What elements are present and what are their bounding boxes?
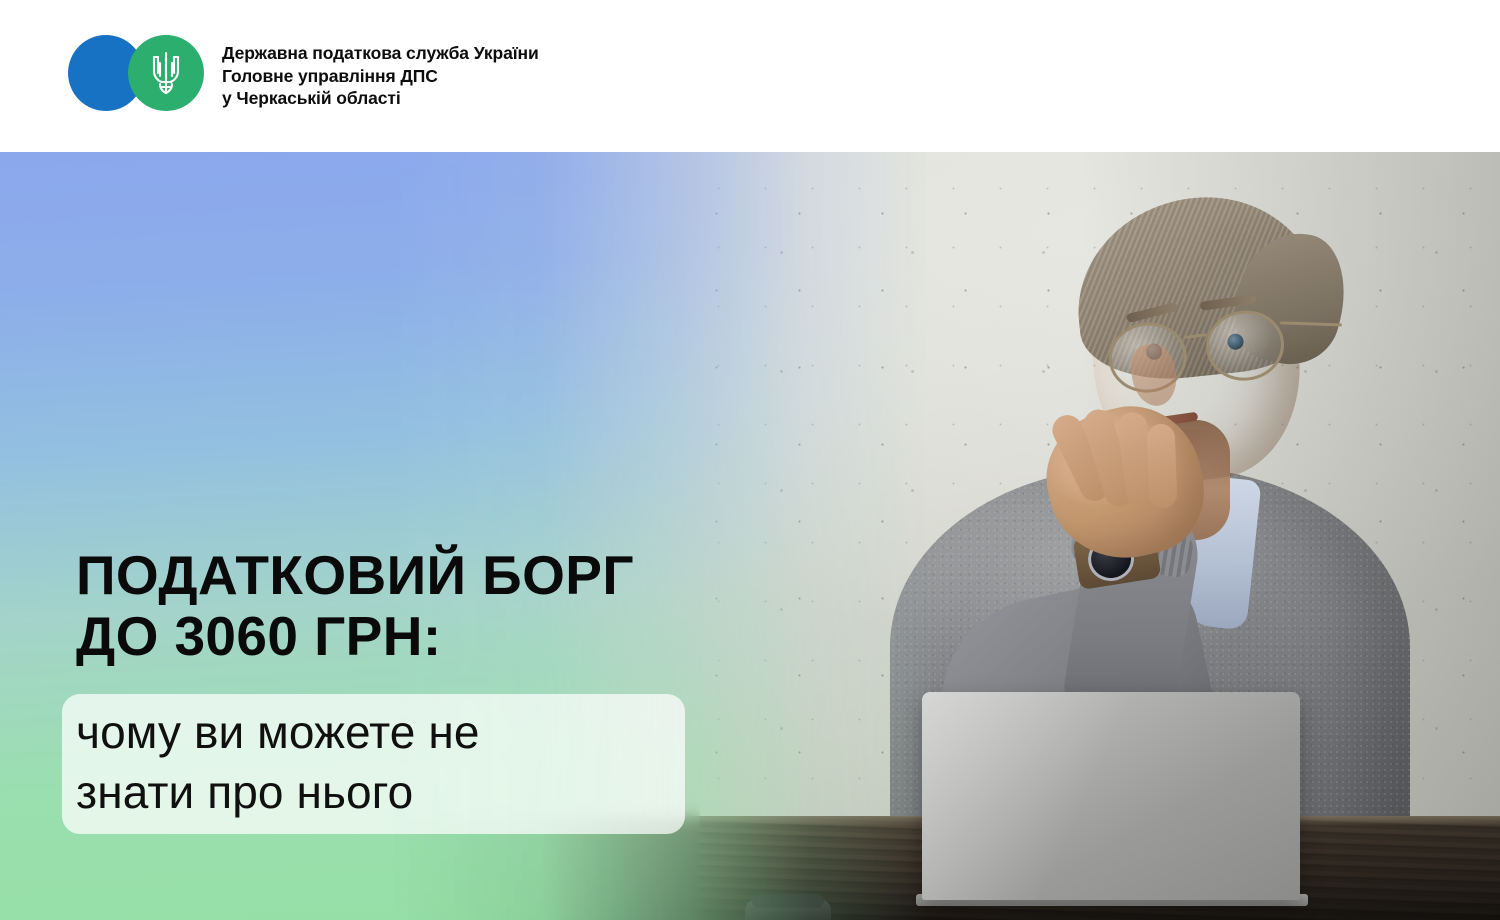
headline-line-2: ДО 3060 ГРН: <box>76 606 736 667</box>
page-subtitle: чому ви можете не знати про нього <box>76 703 686 823</box>
subtitle-line-2: знати про нього <box>76 763 686 823</box>
header-bar: Державна податкова служба України Головн… <box>0 0 1500 152</box>
org-line-1: Державна податкова служба України <box>222 42 539 65</box>
org-line-2: Головне управління ДПС <box>222 65 539 88</box>
hero-text-block: ПОДАТКОВИЙ БОРГ ДО 3060 ГРН: чому ви мож… <box>0 304 760 920</box>
dps-logo <box>68 35 204 111</box>
org-line-3: у Черкаській області <box>222 87 539 110</box>
organization-name: Державна податкова служба України Головн… <box>222 42 539 111</box>
page-title: ПОДАТКОВИЙ БОРГ ДО 3060 ГРН: <box>76 545 736 667</box>
hero-photo: ПОДАТКОВИЙ БОРГ ДО 3060 ГРН: чому ви мож… <box>0 152 1500 920</box>
poster: Державна податкова служба України Головн… <box>0 0 1500 920</box>
headline-line-1: ПОДАТКОВИЙ БОРГ <box>76 545 736 606</box>
subtitle-line-1: чому ви можете не <box>76 703 686 763</box>
ukraine-trident-icon <box>150 49 182 97</box>
